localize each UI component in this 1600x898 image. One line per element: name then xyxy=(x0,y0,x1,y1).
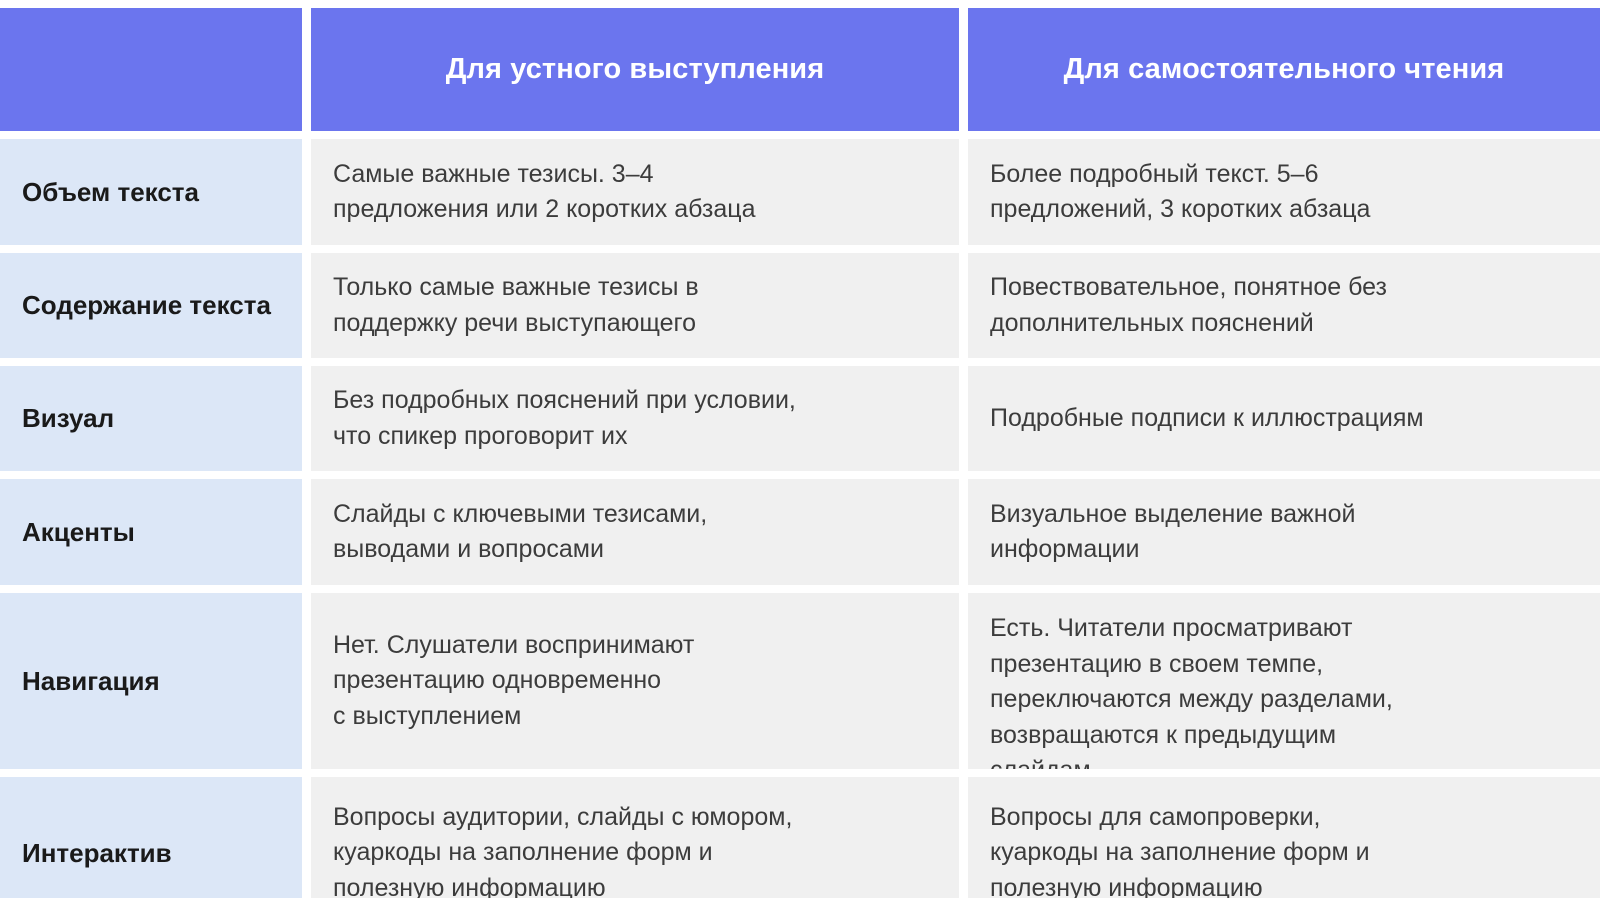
cell-text: Подробные подписи к иллюстрациям xyxy=(990,401,1424,437)
header-reading-label: Для самостоятельного чтения xyxy=(1064,52,1505,87)
row-category-label: Навигация xyxy=(22,665,160,698)
table-cell-oral: Вопросы аудитории, слайды с юмором, куар… xyxy=(311,777,959,898)
row-category-label: Интерактив xyxy=(22,837,172,870)
table-cell-oral: Нет. Слушатели воспринимают презентацию … xyxy=(311,593,959,769)
table-cell-oral: Только самые важные тезисы в поддержку р… xyxy=(311,253,959,358)
table-row: Содержание текста xyxy=(0,253,302,358)
table-grid: Для устного выступления Для самостоятель… xyxy=(0,0,1600,898)
cell-text: Есть. Читатели просматривают презентацию… xyxy=(990,611,1393,769)
table-header-corner xyxy=(0,8,302,131)
cell-text: Нет. Слушатели воспринимают презентацию … xyxy=(333,628,694,735)
table-cell-oral: Слайды с ключевыми тезисами, выводами и … xyxy=(311,479,959,585)
table-row: Навигация xyxy=(0,593,302,769)
table-cell-reading: Визуальное выделение важной информации xyxy=(968,479,1600,585)
row-category-label: Содержание текста xyxy=(22,289,271,322)
cell-text: Визуальное выделение важной информации xyxy=(990,497,1355,568)
row-category-label: Акценты xyxy=(22,516,135,549)
cell-text: Только самые важные тезисы в поддержку р… xyxy=(333,270,699,341)
table-header-oral: Для устного выступления xyxy=(311,8,959,131)
table-row: Визуал xyxy=(0,366,302,471)
table-cell-reading: Повествовательное, понятное без дополнит… xyxy=(968,253,1600,358)
table-cell-reading: Есть. Читатели просматривают презентацию… xyxy=(968,593,1600,769)
table-cell-oral: Самые важные тезисы. 3–4 предложения или… xyxy=(311,139,959,245)
table-row: Акценты xyxy=(0,479,302,585)
table-row: Интерактив xyxy=(0,777,302,898)
row-category-label: Визуал xyxy=(22,402,114,435)
cell-text: Самые важные тезисы. 3–4 предложения или… xyxy=(333,157,756,228)
cell-text: Более подробный текст. 5–6 предложений, … xyxy=(990,157,1370,228)
table-header-reading: Для самостоятельного чтения xyxy=(968,8,1600,131)
table-cell-reading: Более подробный текст. 5–6 предложений, … xyxy=(968,139,1600,245)
comparison-table: Для устного выступления Для самостоятель… xyxy=(0,0,1600,898)
row-category-label: Объем текста xyxy=(22,176,199,209)
cell-text: Вопросы для самопроверки, куаркоды на за… xyxy=(990,800,1370,898)
table-cell-oral: Без подробных пояснений при условии, что… xyxy=(311,366,959,471)
cell-text: Повествовательное, понятное без дополнит… xyxy=(990,270,1387,341)
cell-text: Вопросы аудитории, слайды с юмором, куар… xyxy=(333,800,792,898)
table-cell-reading: Подробные подписи к иллюстрациям xyxy=(968,366,1600,471)
table-row: Объем текста xyxy=(0,139,302,245)
cell-text: Слайды с ключевыми тезисами, выводами и … xyxy=(333,497,707,568)
cell-text: Без подробных пояснений при условии, что… xyxy=(333,383,796,454)
header-oral-label: Для устного выступления xyxy=(446,52,825,87)
table-cell-reading: Вопросы для самопроверки, куаркоды на за… xyxy=(968,777,1600,898)
